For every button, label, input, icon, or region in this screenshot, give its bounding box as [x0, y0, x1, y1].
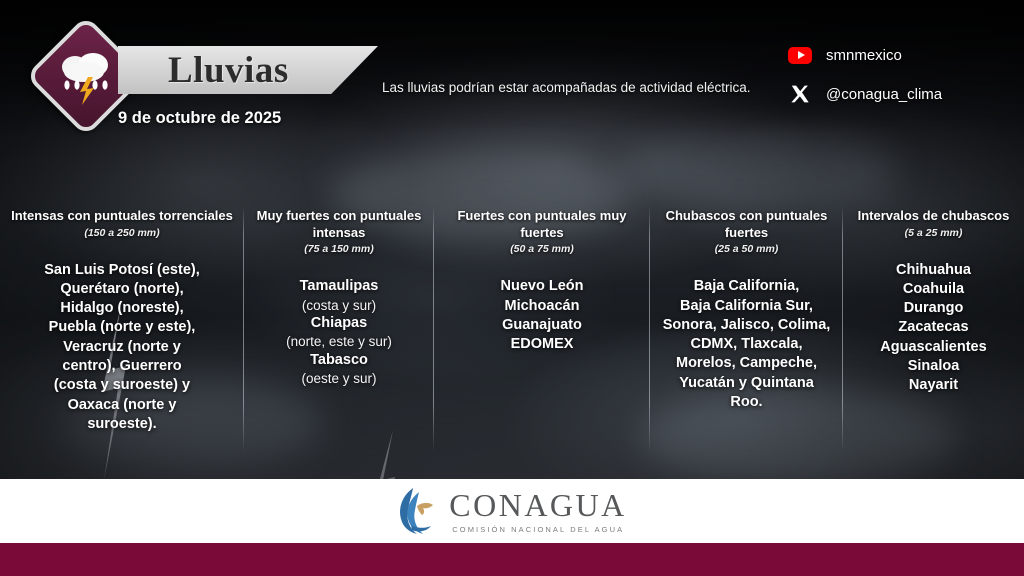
state-entry: Yucatán y Quintana	[663, 374, 831, 393]
state-entry: Baja California,	[663, 277, 831, 296]
social-link-x[interactable]: @conagua_clima	[786, 79, 986, 109]
conagua-wave-icon	[397, 486, 439, 536]
column-entries: Nuevo LeónMichoacánGuanajuatoEDOMEX	[501, 277, 584, 354]
column-fuertes: Fuertes con puntuales muy fuertes (50 a …	[434, 196, 650, 461]
x-twitter-icon	[786, 84, 814, 104]
column-range: (150 a 250 mm)	[84, 227, 159, 239]
state-entry: San Luis Potosí (este),	[44, 261, 200, 280]
state-entry: (costa y suroeste) y	[44, 376, 200, 395]
state-entry: Aguascalientes	[880, 338, 986, 357]
header: Lluvias 9 de octubre de 2025 Las lluvias…	[0, 0, 1024, 140]
column-range: (75 a 150 mm)	[304, 243, 373, 255]
state-entry: Sinaloa	[880, 357, 986, 376]
column-entries: ChihuahuaCoahuilaDurangoZacatecasAguasca…	[880, 261, 986, 396]
column-range: (50 a 75 mm)	[510, 243, 574, 255]
state-entry: suroeste).	[44, 415, 200, 434]
state-entry: Oaxaca (norte y	[44, 396, 200, 415]
state-entry: Roo.	[663, 393, 831, 412]
logo-subtitle: COMISIÓN NACIONAL DEL AGUA	[452, 525, 627, 534]
rain-category-columns: Intensas con puntuales torrenciales (150…	[0, 196, 1024, 461]
state-entry: Michoacán	[501, 297, 584, 316]
cloud-lightning-glyph	[55, 47, 117, 105]
state-entry: Puebla (norte y este),	[44, 318, 200, 337]
column-heading: Muy fuertes con puntuales intensas	[250, 208, 428, 241]
social-link-youtube[interactable]: smnmexico	[786, 40, 986, 70]
column-range: (5 a 25 mm)	[905, 227, 963, 239]
state-entry: Veracruz (norte y	[44, 338, 200, 357]
state-entry: CDMX, Tlaxcala,	[663, 335, 831, 354]
state-entry: Coahuila	[880, 280, 986, 299]
footer-bar	[0, 543, 1024, 576]
column-entries: San Luis Potosí (este),Querétaro (norte)…	[44, 261, 200, 435]
state-entry: Tamaulipas	[286, 277, 392, 296]
state-entry: Baja California Sur,	[663, 297, 831, 316]
column-entries: Baja California,Baja California Sur,Sono…	[663, 277, 831, 412]
column-chubascos: Chubascos con puntuales fuertes (25 a 50…	[650, 196, 843, 461]
youtube-icon	[786, 47, 814, 64]
conagua-logo: CONAGUA COMISIÓN NACIONAL DEL AGUA	[397, 486, 627, 536]
state-entry: Chiapas	[286, 314, 392, 333]
state-entry: EDOMEX	[501, 335, 584, 354]
column-intensas: Intensas con puntuales torrenciales (150…	[0, 196, 244, 461]
state-entry: Hidalgo (noreste),	[44, 299, 200, 318]
infographic-root: Lluvias 9 de octubre de 2025 Las lluvias…	[0, 0, 1024, 576]
column-heading: Intervalos de chubascos	[858, 208, 1010, 225]
state-entry: Durango	[880, 299, 986, 318]
state-entry: Querétaro (norte),	[44, 280, 200, 299]
column-heading: Intensas con puntuales torrenciales	[11, 208, 233, 225]
x-glyph	[790, 84, 810, 104]
column-heading: Chubascos con puntuales fuertes	[656, 208, 837, 241]
date-label: 9 de octubre de 2025	[118, 109, 281, 128]
state-entry: Tabasco	[286, 351, 392, 370]
category-banner: Lluvias	[118, 46, 378, 94]
youtube-handle: smnmexico	[826, 47, 902, 64]
state-entry: Sonora, Jalisco, Colima,	[663, 316, 831, 335]
state-entry: Zacatecas	[880, 318, 986, 337]
state-entry: Chihuahua	[880, 261, 986, 280]
x-handle: @conagua_clima	[826, 86, 942, 103]
column-entries: Tamaulipas(costa y sur)Chiapas(norte, es…	[286, 277, 392, 387]
state-region: (oeste y sur)	[286, 370, 392, 388]
logo-wordmark: CONAGUA	[449, 489, 627, 521]
tagline-text: Las lluvias podrían estar acompañadas de…	[382, 80, 750, 95]
column-heading: Fuertes con puntuales muy fuertes	[440, 208, 644, 241]
state-entry: centro), Guerrero	[44, 357, 200, 376]
state-entry: Morelos, Campeche,	[663, 354, 831, 373]
footer-logo-band: CONAGUA COMISIÓN NACIONAL DEL AGUA	[0, 479, 1024, 543]
social-links: smnmexico @conagua_clima	[786, 40, 986, 118]
state-region: (costa y sur)	[286, 297, 392, 315]
column-muy-fuertes: Muy fuertes con puntuales intensas (75 a…	[244, 196, 434, 461]
state-entry: Nuevo León	[501, 277, 584, 296]
state-region: (norte, este y sur)	[286, 333, 392, 351]
state-entry: Guanajuato	[501, 316, 584, 335]
state-entry: Nayarit	[880, 376, 986, 395]
column-intervalos: Intervalos de chubascos (5 a 25 mm) Chih…	[843, 196, 1024, 461]
page-title: Lluvias	[168, 52, 289, 89]
column-range: (25 a 50 mm)	[715, 243, 779, 255]
